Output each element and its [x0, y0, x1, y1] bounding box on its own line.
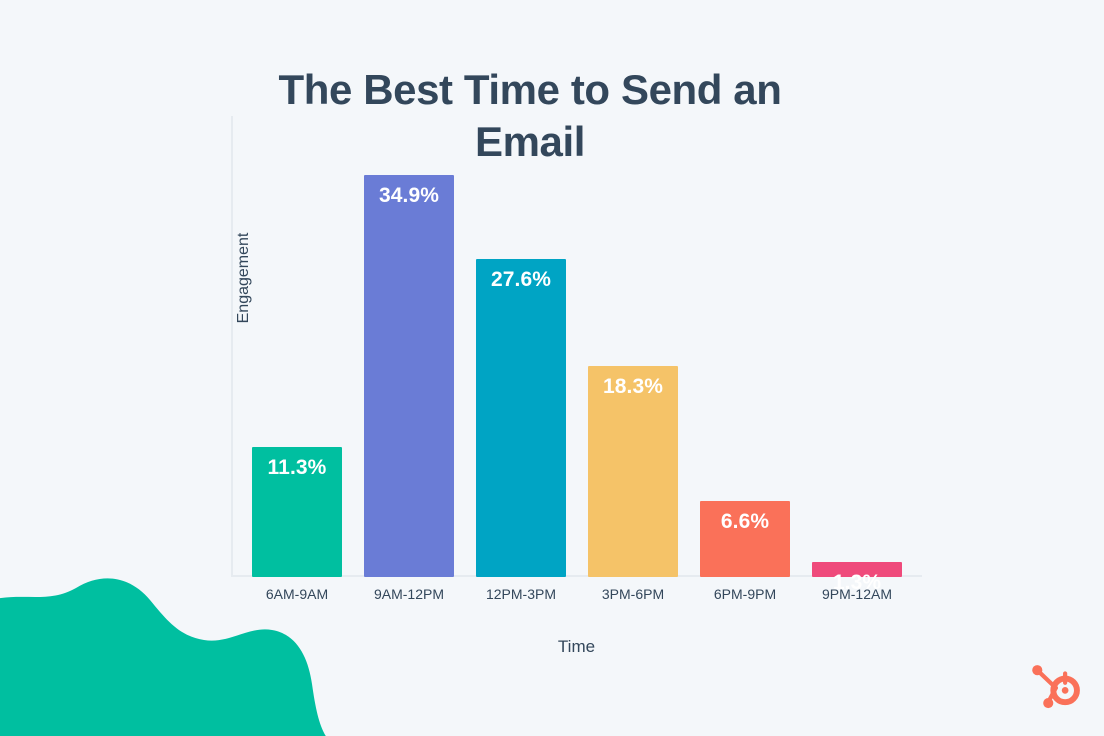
bar-3pm-6pm[interactable]: 18.3%: [588, 366, 678, 577]
x-tick-label: 3PM-6PM: [577, 586, 689, 602]
x-tick-label: 12PM-3PM: [465, 586, 577, 602]
infographic-canvas: The Best Time to Send an Email Engagemen…: [0, 0, 1104, 736]
bar-value-label: 27.6%: [491, 268, 551, 292]
bar-slot: 34.9%: [353, 116, 465, 577]
bar-slot: 1.3%: [801, 116, 913, 577]
bar-value-label: 18.3%: [603, 375, 663, 399]
y-axis-line: [231, 116, 233, 577]
bar-value-label: 6.6%: [721, 510, 769, 534]
x-tick-label: 6PM-9PM: [689, 586, 801, 602]
bar-6am-9am[interactable]: 11.3%: [252, 447, 342, 577]
x-axis-tick-labels: 6AM-9AM 9AM-12PM 12PM-3PM 3PM-6PM 6PM-9P…: [241, 586, 913, 602]
x-tick-label: 6AM-9AM: [241, 586, 353, 602]
bar-series: 11.3% 34.9% 27.6% 18.3% 6.6% 1.3%: [241, 116, 913, 577]
bar-slot: 11.3%: [241, 116, 353, 577]
bar-9pm-12am[interactable]: 1.3%: [812, 562, 902, 577]
bar-12pm-3pm[interactable]: 27.6%: [476, 259, 566, 577]
bar-value-label: 34.9%: [379, 184, 439, 208]
x-tick-label: 9AM-12PM: [353, 586, 465, 602]
bar-6pm-9pm[interactable]: 6.6%: [700, 501, 790, 577]
bar-slot: 18.3%: [577, 116, 689, 577]
bar-slot: 27.6%: [465, 116, 577, 577]
x-axis-title: Time: [231, 637, 922, 657]
bar-slot: 6.6%: [689, 116, 801, 577]
bar-9am-12pm[interactable]: 34.9%: [364, 175, 454, 577]
hubspot-sprocket-logo: [1028, 660, 1082, 714]
x-tick-label: 9PM-12AM: [801, 586, 913, 602]
bar-value-label: 11.3%: [268, 456, 327, 480]
